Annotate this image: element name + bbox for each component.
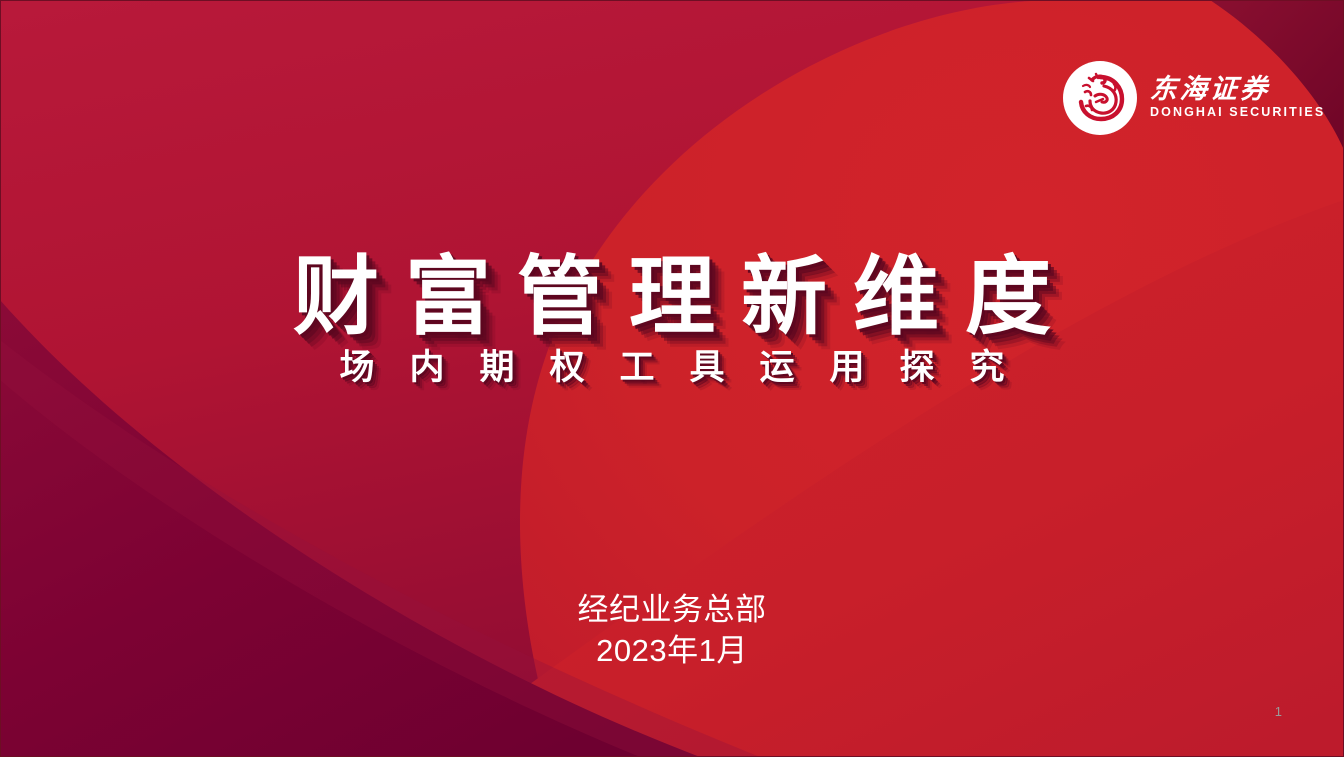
title-slide: 东海证券 DONGHAI SECURITIES 财富管理新维度 场内期权工具运用… — [0, 0, 1344, 757]
donghai-dragon-emblem-icon — [1063, 61, 1137, 135]
brand-logo: 东海证券 DONGHAI SECURITIES — [1063, 55, 1325, 141]
brand-name-cn: 东海证券 — [1149, 76, 1326, 103]
page-number: 1 — [1275, 705, 1282, 718]
brand-wordmark: 东海证券 DONGHAI SECURITIES — [1150, 76, 1325, 121]
brand-name-en: DONGHAI SECURITIES — [1150, 106, 1325, 119]
